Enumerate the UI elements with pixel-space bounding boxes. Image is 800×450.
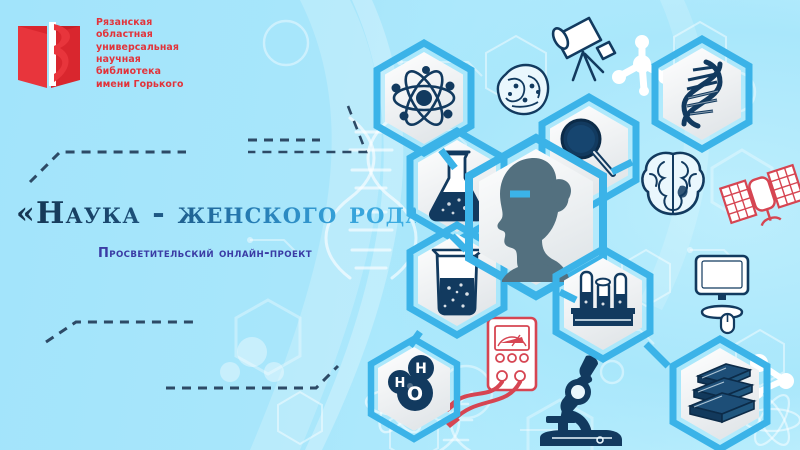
free-icon-satellite [722, 156, 800, 232]
logo-line-4: научная [96, 54, 184, 66]
logo-line-2: областная [96, 29, 184, 41]
open-book-logo-icon [14, 16, 88, 92]
poster-canvas: Рязанская областная универсальная научна… [0, 0, 800, 450]
logo-line-5: библиотека [96, 66, 184, 78]
page-subtitle: Просветительский онлайн-проект [98, 245, 403, 261]
logo-line-6: имени Горького [96, 79, 184, 91]
hex-tile-books [668, 336, 772, 450]
free-icon-computer-monitor [690, 252, 758, 334]
logo-line-1: Рязанская [96, 17, 184, 29]
hex-tile-dna [650, 36, 754, 152]
hex-tile-water: H H O [366, 336, 462, 442]
library-logo: Рязанская областная универсальная научна… [14, 8, 204, 100]
svg-text:H: H [415, 361, 427, 377]
hex-tile-testtubes [551, 246, 655, 362]
page-title: «Наука - женского рода» [16, 196, 416, 231]
headline-block: «Наука - женского рода» Просветительский… [16, 196, 416, 261]
free-icon-brain [636, 146, 710, 220]
svg-text:H: H [395, 376, 406, 391]
logo-line-3: универсальная [96, 42, 184, 54]
library-logo-text: Рязанская областная универсальная научна… [96, 17, 184, 91]
free-icon-microscope [528, 352, 640, 450]
